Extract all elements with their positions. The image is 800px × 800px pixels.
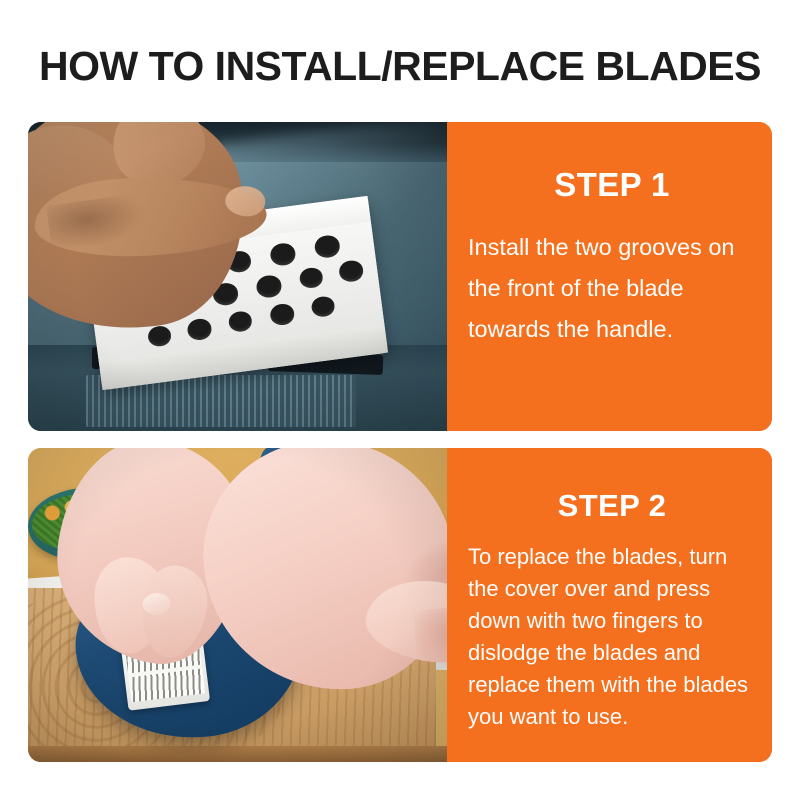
step-2-text-panel: STEP 2 To replace the blades, turn the c… xyxy=(447,448,772,762)
cutting-board-edge xyxy=(28,746,447,762)
step-2-photo xyxy=(28,448,447,762)
step-2-heading: STEP 2 xyxy=(466,488,758,524)
step-1-body: Install the two grooves on the front of … xyxy=(468,227,758,350)
step-1-heading: STEP 1 xyxy=(466,166,758,204)
step-1-photo xyxy=(28,122,447,431)
page-title: HOW TO INSTALL/REPLACE BLADES xyxy=(0,42,800,90)
step-2-body: To replace the blades, turn the cover ov… xyxy=(468,541,758,733)
step-row-1: STEP 1 Install the two grooves on the fr… xyxy=(28,122,772,431)
step-1-text-panel: STEP 1 Install the two grooves on the fr… xyxy=(447,122,772,431)
right-hand-knuckle xyxy=(413,605,447,672)
step-row-2: STEP 2 To replace the blades, turn the c… xyxy=(28,448,772,762)
instruction-graphic: HOW TO INSTALL/REPLACE BLADES xyxy=(0,0,800,800)
